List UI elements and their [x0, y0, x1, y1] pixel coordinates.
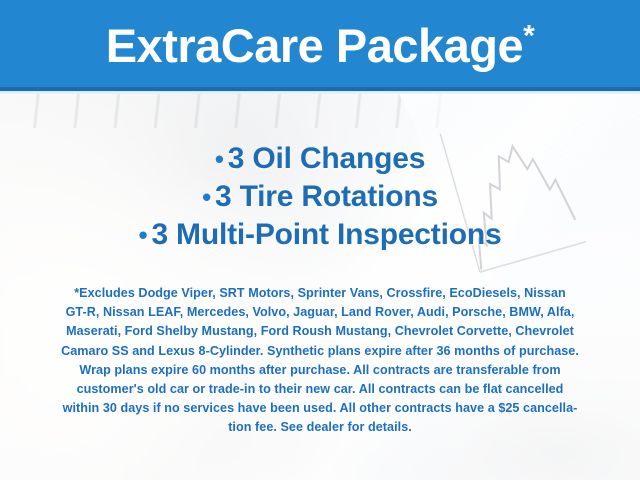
- bullet-icon: •: [202, 182, 215, 212]
- banner-glow-divider: [0, 91, 640, 94]
- disclaimer-line: *Excludes Dodge Viper, SRT Motors, Sprin…: [22, 284, 618, 303]
- benefit-item-label: 3 Multi-Point Inspections: [151, 218, 501, 251]
- disclaimer-line: Maserati, Ford Shelby Mustang, Ford Rous…: [22, 322, 618, 341]
- benefit-item-label: 3 Oil Changes: [228, 142, 425, 175]
- disclaimer-line: Wrap plans expire 60 months after purcha…: [22, 361, 618, 380]
- benefit-item-oil-changes: •3 Oil Changes: [0, 140, 640, 178]
- disclaimer-line: customer's old car or trade-in to their …: [22, 380, 618, 399]
- disclaimer-line: tion fee. See dealer for details.: [22, 418, 618, 437]
- disclaimer-text: *Excludes Dodge Viper, SRT Motors, Sprin…: [22, 284, 618, 438]
- page-title-asterisk: *: [523, 19, 534, 52]
- benefit-item-tire-rotations: •3 Tire Rotations: [0, 178, 640, 216]
- engine-vent-slats-decoration: [0, 94, 470, 128]
- disclaimer-line: Camaro SS and Lexus 8-Cylinder. Syntheti…: [22, 342, 618, 361]
- extracare-package-ad: ExtraCare Package* •3 Oil Changes •3 Tir…: [0, 0, 640, 480]
- bullet-icon: •: [215, 144, 228, 174]
- benefit-item-label: 3 Tire Rotations: [215, 180, 438, 213]
- bullet-icon: •: [139, 220, 152, 250]
- benefit-item-multi-point-inspections: •3 Multi-Point Inspections: [0, 216, 640, 254]
- disclaimer-line: within 30 days if no services have been …: [22, 399, 618, 418]
- page-title-text: ExtraCare Package: [106, 19, 523, 72]
- page-title: ExtraCare Package*: [0, 18, 640, 74]
- benefits-list: •3 Oil Changes •3 Tire Rotations •3 Mult…: [0, 140, 640, 254]
- disclaimer-line: GT-R, Nissan LEAF, Mercedes, Volvo, Jagu…: [22, 303, 618, 322]
